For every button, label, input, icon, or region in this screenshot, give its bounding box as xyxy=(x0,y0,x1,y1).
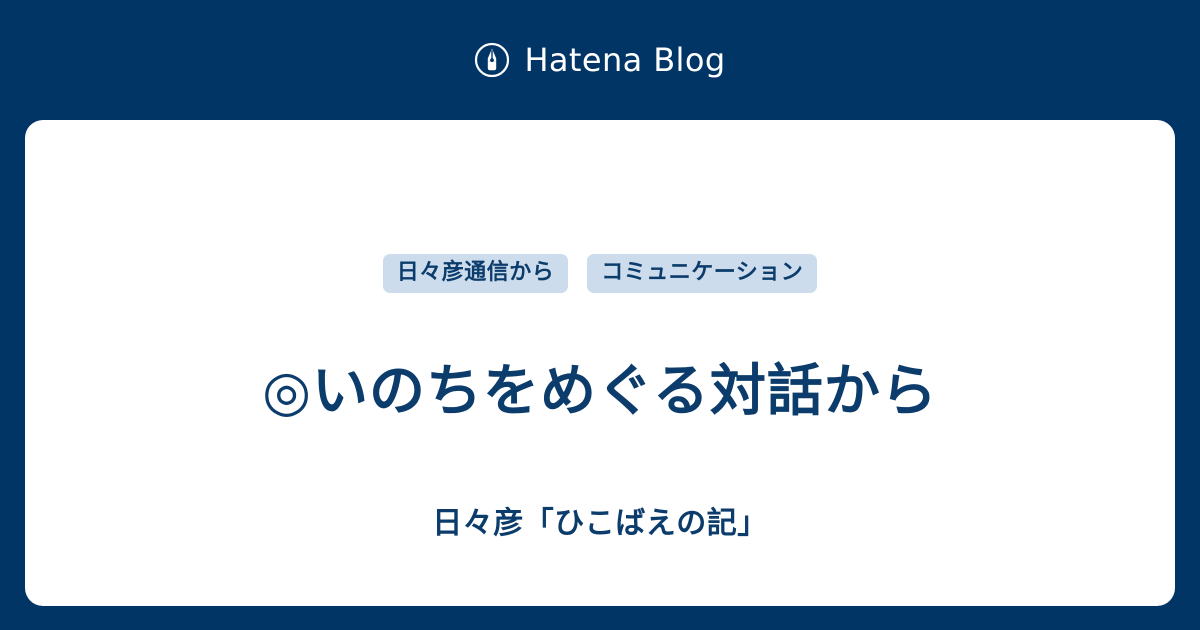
tag-item[interactable]: コミュニケーション xyxy=(587,254,817,293)
share-card-page: Hatena Blog 日々彦通信から コミュニケーション ◎いのちをめぐる対話… xyxy=(0,0,1200,630)
tag-item[interactable]: 日々彦通信から xyxy=(383,254,569,293)
hatena-pen-nib-icon xyxy=(474,42,510,78)
brand-header: Hatena Blog xyxy=(0,0,1200,120)
brand-name: Hatena Blog xyxy=(524,44,725,76)
entry-card: 日々彦通信から コミュニケーション ◎いのちをめぐる対話から 日々彦「ひこばえの… xyxy=(25,120,1175,606)
blog-name: 日々彦「ひこばえの記」 xyxy=(25,506,1175,542)
tag-list: 日々彦通信から コミュニケーション xyxy=(25,254,1175,293)
entry-title: ◎いのちをめぐる対話から xyxy=(25,358,1175,425)
